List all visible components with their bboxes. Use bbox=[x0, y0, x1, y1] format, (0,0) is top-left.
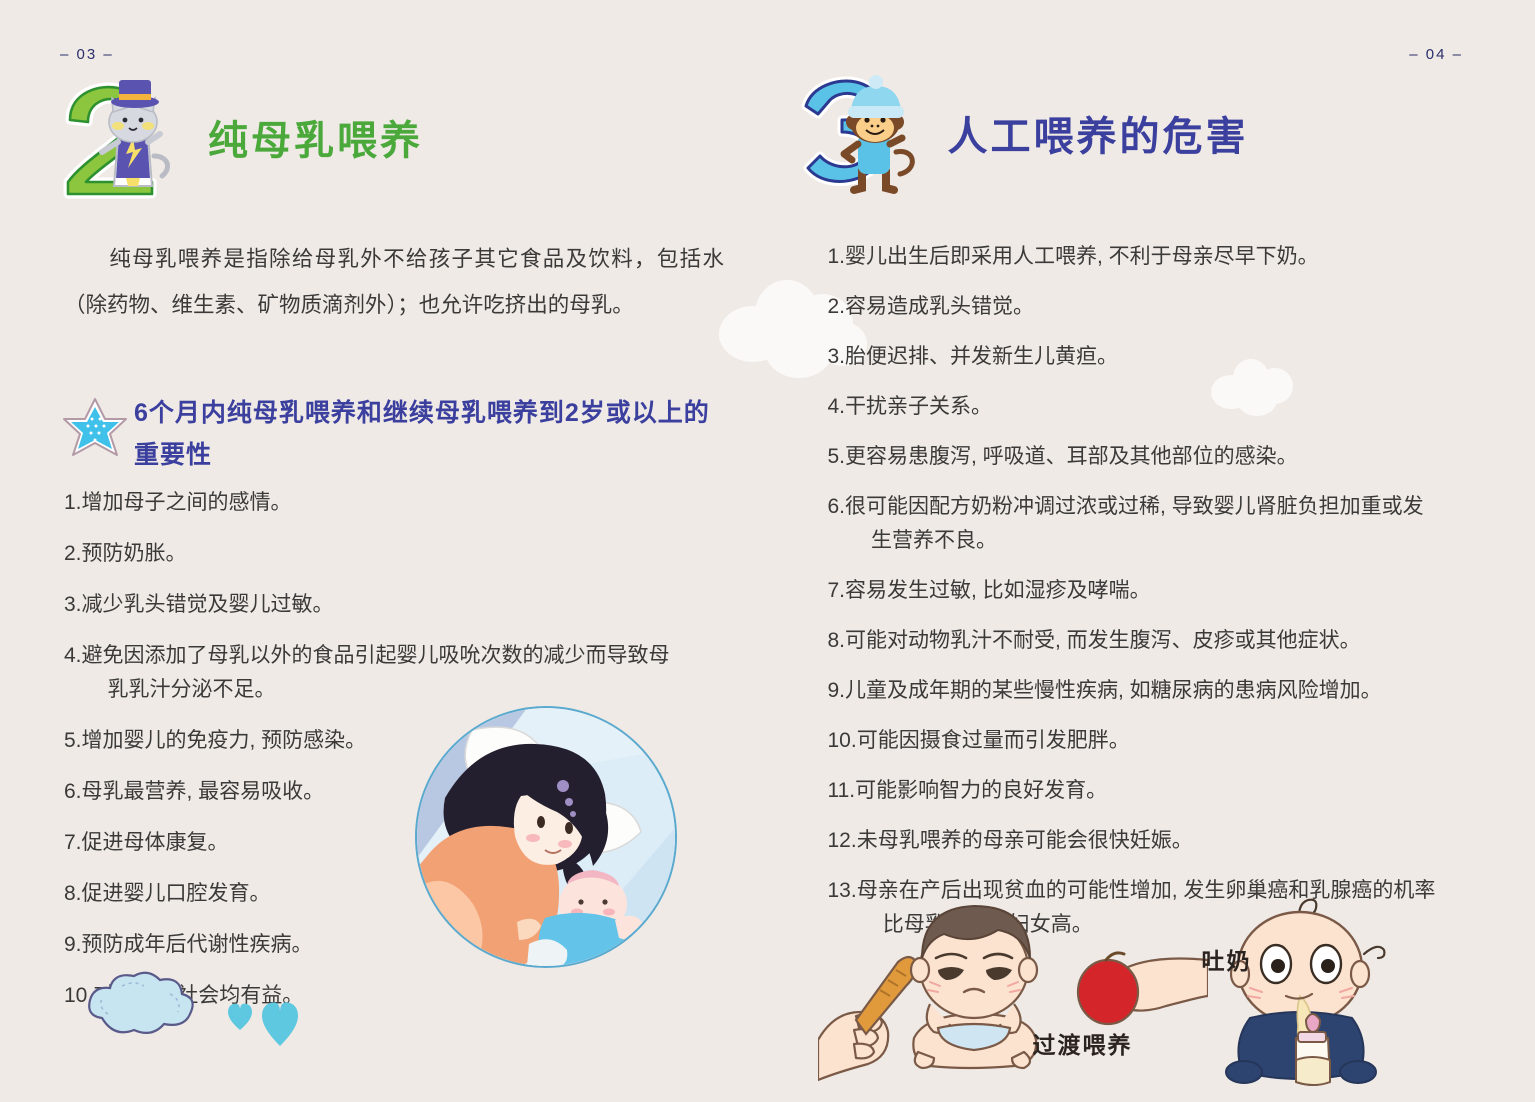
list-item-text: 儿童及成年期的某些慢性疾病, 如糖尿病的患病风险增加。 bbox=[845, 674, 1477, 708]
list-item: 10.可能因摄食过量而引发肥胖。 bbox=[828, 724, 1478, 758]
list-item: 6.很可能因配方奶粉冲调过浓或过稀, 导致婴儿肾脏负担加重或发生营养不良。 bbox=[828, 490, 1478, 558]
list-item-line2: 乳乳汁分泌不足。 bbox=[82, 673, 724, 707]
list-item-text: 可能对动物乳汁不耐受, 而发生腹泻、皮疹或其他症状。 bbox=[845, 624, 1477, 658]
list-item: 8.可能对动物乳汁不耐受, 而发生腹泻、皮疹或其他症状。 bbox=[828, 624, 1478, 658]
list-item-number: 7. bbox=[64, 826, 82, 860]
list-item: 3.减少乳头错觉及婴儿过敏。 bbox=[64, 588, 724, 622]
blue-star-icon bbox=[62, 394, 128, 460]
page-number-left: – 03 – bbox=[60, 46, 114, 63]
list-item: 4.干扰亲子关系。 bbox=[828, 390, 1478, 424]
list-item-number: 3. bbox=[64, 588, 82, 622]
baby-spitting-milk-illustration bbox=[1188, 892, 1408, 1092]
list-item-text: 婴儿出生后即采用人工喂养, 不利于母亲尽早下奶。 bbox=[845, 240, 1477, 274]
list-item-text: 很可能因配方奶粉冲调过浓或过稀, 导致婴儿肾脏负担加重或发生营养不良。 bbox=[845, 490, 1477, 558]
left-page: – 03 – bbox=[0, 0, 768, 1102]
list-item-number: 1. bbox=[828, 240, 846, 274]
list-item-number: 2. bbox=[828, 290, 846, 324]
left-paragraph: 纯母乳喂养是指除给母乳外不给孩子其它食品及饮料，包括水（除药物、维生素、矿物质滴… bbox=[64, 236, 724, 328]
list-item-text: 预防成年后代谢性疾病。 bbox=[82, 928, 412, 962]
list-item-text: 增加母子之间的感情。 bbox=[82, 486, 724, 520]
list-item-text: 促进婴儿口腔发育。 bbox=[82, 877, 412, 911]
list-item-number: 7. bbox=[828, 574, 846, 608]
right-page: – 04 – bbox=[768, 0, 1535, 1102]
list-item-number: 3. bbox=[828, 340, 846, 374]
list-item-number: 10. bbox=[64, 979, 93, 1013]
list-item-text: 预防奶胀。 bbox=[82, 537, 724, 571]
page-number-right: – 04 – bbox=[1409, 46, 1463, 63]
list-item: 1.婴儿出生后即采用人工喂养, 不利于母亲尽早下奶。 bbox=[828, 240, 1478, 274]
list-item-text: 对家庭和社会均有益。 bbox=[93, 979, 423, 1013]
list-item: 11.可能影响智力的良好发育。 bbox=[828, 774, 1478, 808]
right-section-title: 人工喂养的危害 bbox=[948, 104, 1249, 162]
list-item-line1: 避免因添加了母乳以外的食品引起婴儿吸吮次数的减少而导致母 bbox=[82, 644, 670, 667]
list-item-text: 增加婴儿的免疫力, 预防感染。 bbox=[82, 724, 412, 758]
list-item-line2: 生营养不良。 bbox=[845, 524, 1477, 558]
left-subheading-text: 6个月内纯母乳喂养和继续母乳喂养到2岁或以上的重要性 bbox=[134, 392, 722, 476]
list-item: 2.容易造成乳头错觉。 bbox=[828, 290, 1478, 324]
list-item-number: 2. bbox=[64, 537, 82, 571]
list-item: 5.更容易患腹泻, 呼吸道、耳部及其他部位的感染。 bbox=[828, 440, 1478, 474]
list-item-text: 可能因摄食过量而引发肥胖。 bbox=[857, 724, 1478, 758]
list-item: 12. 未母乳喂养的母亲可能会很快妊娠。 bbox=[828, 824, 1478, 858]
right-numbered-list: 1.婴儿出生后即采用人工喂养, 不利于母亲尽早下奶。 2.容易造成乳头错觉。 3… bbox=[828, 240, 1478, 958]
list-item: 3.胎便迟排、并发新生儿黄疸。 bbox=[828, 340, 1478, 374]
label-transition-feeding: 过渡喂养 bbox=[1033, 1026, 1133, 1060]
list-item-text: 容易造成乳头错觉。 bbox=[845, 290, 1477, 324]
list-item-number: 6. bbox=[828, 490, 846, 558]
mother-breastfeeding-illustration bbox=[415, 706, 677, 968]
list-item: 10.对家庭和社会均有益。 bbox=[64, 979, 724, 1013]
list-item: 2.预防奶胀。 bbox=[64, 537, 724, 571]
list-item: 1.增加母子之间的感情。 bbox=[64, 486, 724, 520]
left-paragraph-text: 纯母乳喂养是指除给母乳外不给孩子其它食品及饮料，包括水（除药物、维生素、矿物质滴… bbox=[64, 247, 724, 317]
list-item-number: 8. bbox=[828, 624, 846, 658]
section-number-3-with-monkey-mascot bbox=[788, 78, 918, 188]
list-item-number: 9. bbox=[828, 674, 846, 708]
list-item-text: 干扰亲子关系。 bbox=[845, 390, 1477, 424]
book-spread: – 03 – bbox=[0, 0, 1535, 1102]
list-item-text: 减少乳头错觉及婴儿过敏。 bbox=[82, 588, 724, 622]
toddler-refusing-food-illustration bbox=[818, 900, 1208, 1095]
list-item-number: 11. bbox=[828, 774, 856, 808]
list-item-text: 未母乳喂养的母亲可能会很快妊娠。 bbox=[857, 824, 1478, 858]
list-item-number: 8. bbox=[64, 877, 82, 911]
list-item-number: 5. bbox=[828, 440, 846, 474]
list-item-number: 4. bbox=[828, 390, 846, 424]
list-item-line1: 很可能因配方奶粉冲调过浓或过稀, 导致婴儿肾脏负担加重或发 bbox=[845, 495, 1424, 518]
right-section-header: 人工喂养的危害 bbox=[788, 78, 1249, 188]
left-section-header: 纯母乳喂养 bbox=[56, 82, 423, 192]
list-item: 4.避免因添加了母乳以外的食品引起婴儿吸吮次数的减少而导致母乳乳汁分泌不足。 bbox=[64, 639, 724, 707]
list-item: 7.容易发生过敏, 比如湿疹及哮喘。 bbox=[828, 574, 1478, 608]
list-item-text: 促进母体康复。 bbox=[82, 826, 412, 860]
left-section-title: 纯母乳喂养 bbox=[208, 108, 423, 166]
list-item-number: 12. bbox=[828, 824, 857, 858]
list-item-text: 更容易患腹泻, 呼吸道、耳部及其他部位的感染。 bbox=[845, 440, 1477, 474]
list-item-text: 容易发生过敏, 比如湿疹及哮喘。 bbox=[845, 574, 1477, 608]
list-item-number: 10. bbox=[828, 724, 857, 758]
list-item-number: 6. bbox=[64, 775, 82, 809]
list-item-text: 可能影响智力的良好发育。 bbox=[855, 774, 1477, 808]
list-item-number: 4. bbox=[64, 639, 82, 707]
left-subheading: 6个月内纯母乳喂养和继续母乳喂养到2岁或以上的重要性 bbox=[62, 392, 722, 476]
list-item-text: 胎便迟排、并发新生儿黄疸。 bbox=[845, 340, 1477, 374]
list-item-number: 1. bbox=[64, 486, 82, 520]
list-item-text: 母乳最营养, 最容易吸收。 bbox=[82, 775, 412, 809]
section-number-2-with-cat-mascot bbox=[56, 82, 186, 192]
list-item-number: 5. bbox=[64, 724, 82, 758]
list-item: 9.儿童及成年期的某些慢性疾病, 如糖尿病的患病风险增加。 bbox=[828, 674, 1478, 708]
list-item-number: 9. bbox=[64, 928, 82, 962]
list-item-text: 避免因添加了母乳以外的食品引起婴儿吸吮次数的减少而导致母乳乳汁分泌不足。 bbox=[82, 639, 724, 707]
label-spit-up: 吐奶 bbox=[1202, 942, 1252, 976]
